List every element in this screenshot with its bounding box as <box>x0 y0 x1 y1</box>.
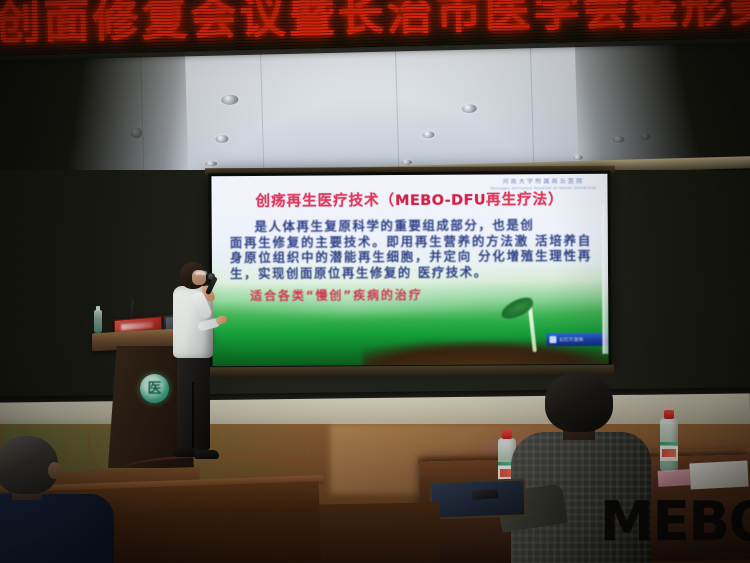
speaker-glasses-icon <box>195 271 207 275</box>
audience-right-head <box>545 372 613 432</box>
screen-edge-highlight <box>602 204 609 354</box>
white-document <box>689 461 748 490</box>
downlight-icon <box>401 160 412 165</box>
slide-body-line: 医疗技术。 <box>418 264 488 279</box>
windows-taskbar[interactable]: 幻灯片放映 <box>546 333 608 346</box>
downlight-icon <box>422 131 434 138</box>
podium-water-bottle <box>94 310 102 333</box>
windows-start-icon[interactable] <box>549 336 556 343</box>
phone-device <box>472 489 499 500</box>
microphone-head-icon <box>208 273 215 280</box>
speaker-hand <box>215 315 228 326</box>
slide-body-line: 面再生修复的主要技术。即用再生营养的方法激 <box>230 233 529 250</box>
slide-title-prefix: 创疡再生医疗技术（ <box>256 193 396 210</box>
hospital-logo-english: Shangqiu Affiliated Hospital of Henan Un… <box>489 186 597 192</box>
downlight-icon <box>221 95 238 105</box>
pink-paper <box>658 469 691 487</box>
podium-emblem-icon: 医 <box>140 374 169 403</box>
mebo-watermark: MEBO <box>600 495 750 549</box>
slide-title-latin: MEBO-DFU <box>395 193 486 210</box>
bottle-cap <box>664 410 674 419</box>
conference-photo-scene: 河南大学附属商丘医院 Shangqiu Affiliated Hospital … <box>0 0 750 563</box>
taskbar-label: 幻灯片放映 <box>559 336 583 342</box>
speaker-leg-divider <box>192 382 194 448</box>
bottle-ring <box>660 442 678 445</box>
slide-title-suffix: 再生疗法） <box>486 192 564 208</box>
downlight-icon <box>215 135 228 143</box>
downlight-icon <box>462 104 477 113</box>
presentation-slide: 河南大学附属商丘医院 Shangqiu Affiliated Hospital … <box>211 174 608 366</box>
slide-body-text: 是人体再生复原科学的重要组成部分，也是创 面再生修复的主要技术。即用再生营养的方… <box>230 217 592 282</box>
speaker-shoe <box>194 450 219 459</box>
slide-title: 创疡再生医疗技术（MEBO-DFU再生疗法） <box>212 192 608 211</box>
audience-left-ear <box>48 462 61 479</box>
podium-emblem-glyph: 医 <box>148 382 162 396</box>
audience-member-left <box>0 436 136 563</box>
bottle-label <box>660 446 678 461</box>
slide-highlight-text: 适合各类“慢创”疾病的治疗 <box>250 287 580 304</box>
water-bottle <box>660 418 678 472</box>
audience-left-torso <box>0 494 114 563</box>
speaker-person <box>168 262 230 460</box>
downlight-icon <box>205 161 217 166</box>
projection-screen: 河南大学附属商丘医院 Shangqiu Affiliated Hospital … <box>208 171 611 369</box>
